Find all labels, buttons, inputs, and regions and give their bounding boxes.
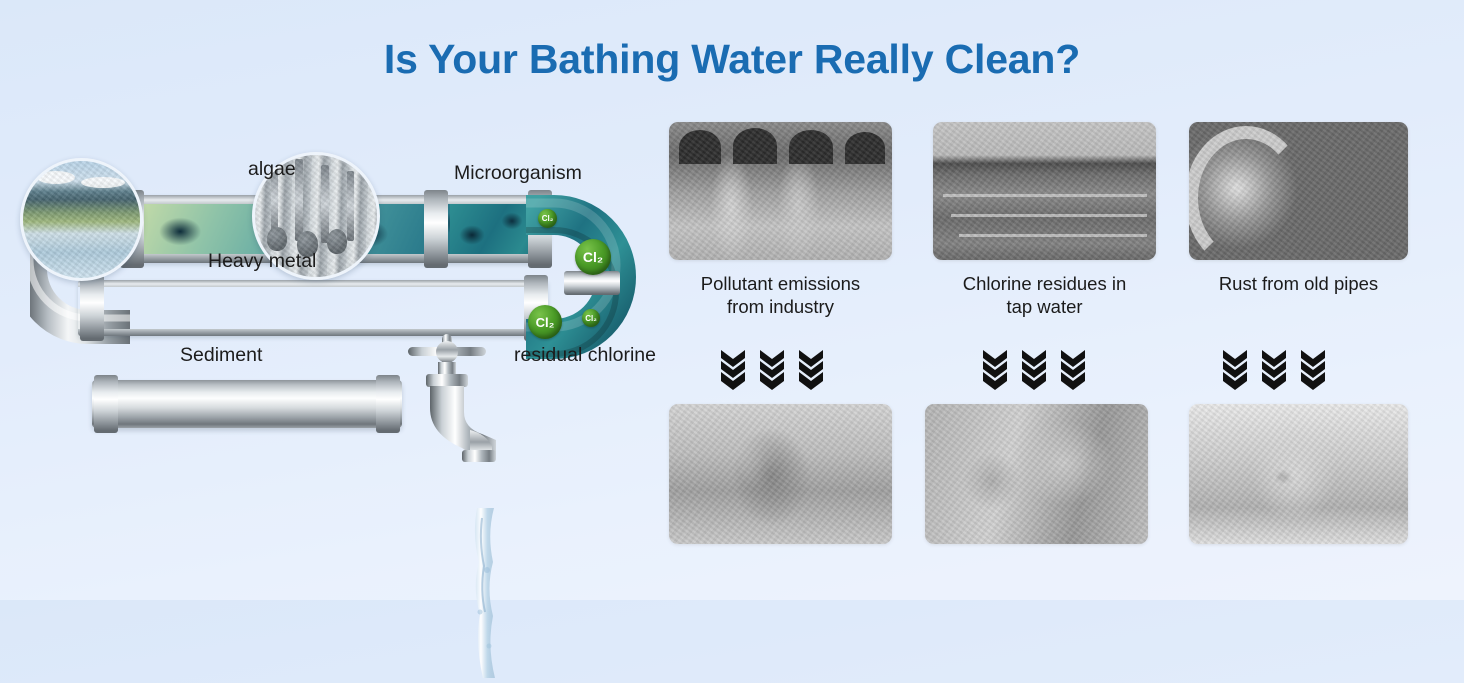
caption-line-1: Rust from old pipes: [1189, 272, 1408, 295]
effect-photo-rough-skin: [925, 404, 1148, 544]
arrow-group-3: [1222, 348, 1326, 390]
contaminated-water-pipe-diagram: Cl₂ Cl₂ Cl₂ Cl₂: [20, 110, 680, 580]
chevron-down-triple-icon: [982, 348, 1008, 390]
chevron-down-triple-icon: [1060, 348, 1086, 390]
chevron-down-triple-icon: [798, 348, 824, 390]
label-heavy-metal: Heavy metal: [208, 250, 316, 273]
causes-effects-panel: Pollutant emissions from industry Chlori…: [660, 0, 1460, 600]
chevron-down-triple-icon: [1300, 348, 1326, 390]
caption-line-1: Chlorine residues in: [933, 272, 1156, 295]
label-algae: algae: [248, 158, 296, 181]
cause-photo-rust-old-pipes: [1189, 122, 1408, 260]
water-stream-shape: [467, 508, 503, 678]
sediment-fill: [78, 287, 548, 329]
effect-photo-damaged-hair: [669, 404, 892, 544]
chlorine-bubble-small-2: Cl₂: [582, 309, 600, 327]
caption-chlorine-residues: Chlorine residues in tap water: [933, 272, 1156, 318]
caption-rust-old-pipes: Rust from old pipes: [1189, 272, 1408, 295]
pipe-outlet: [92, 380, 402, 428]
photo-texture: [669, 122, 892, 260]
photo-texture: [1189, 122, 1408, 260]
pipe-collar-left-sediment: [80, 275, 104, 341]
pipe-highlight-top: [78, 280, 548, 287]
pipe-collar-outlet-left: [94, 375, 118, 433]
caption-line-2: tap water: [933, 295, 1156, 318]
lake-reservoir-photo: [20, 158, 143, 281]
caption-line-2: from industry: [669, 295, 892, 318]
cause-photo-chlorine-residues: [933, 122, 1156, 260]
infographic-root: Is Your Bathing Water Really Clean?: [0, 0, 1464, 600]
chlorine-bubble-small-1: Cl₂: [538, 209, 557, 228]
tap-faucet[interactable]: [390, 332, 520, 492]
arrow-group-2: [982, 348, 1086, 390]
pipe-segment-sediment: [78, 280, 548, 336]
photo-texture: [933, 122, 1156, 260]
photo-texture: [23, 161, 140, 278]
arrow-group-1: [720, 348, 824, 390]
label-sediment: Sediment: [180, 344, 262, 367]
chevron-down-triple-icon: [1261, 348, 1287, 390]
water-stream: [467, 508, 501, 676]
effect-photo-crying-baby: [1189, 404, 1408, 544]
label-residual-chlorine: residual chlorine: [514, 344, 656, 367]
chevron-down-triple-icon: [1021, 348, 1047, 390]
photo-texture: [669, 404, 892, 544]
tap-faucet-shape: [390, 332, 520, 497]
caption-line-1: Pollutant emissions: [669, 272, 892, 295]
cause-photo-pollutant-emissions: [669, 122, 892, 260]
chevron-down-triple-icon: [759, 348, 785, 390]
chevron-down-triple-icon: [720, 348, 746, 390]
label-microorganism: Microorganism: [454, 162, 582, 185]
photo-texture: [925, 404, 1148, 544]
photo-texture: [1189, 404, 1408, 544]
chlorine-bubble-large-1: Cl₂: [575, 239, 611, 275]
pipe-collar-mid-top: [424, 190, 448, 268]
chlorine-bubble-large-2: Cl₂: [528, 305, 562, 339]
caption-pollutant-emissions: Pollutant emissions from industry: [669, 272, 892, 318]
chevron-down-triple-icon: [1222, 348, 1248, 390]
